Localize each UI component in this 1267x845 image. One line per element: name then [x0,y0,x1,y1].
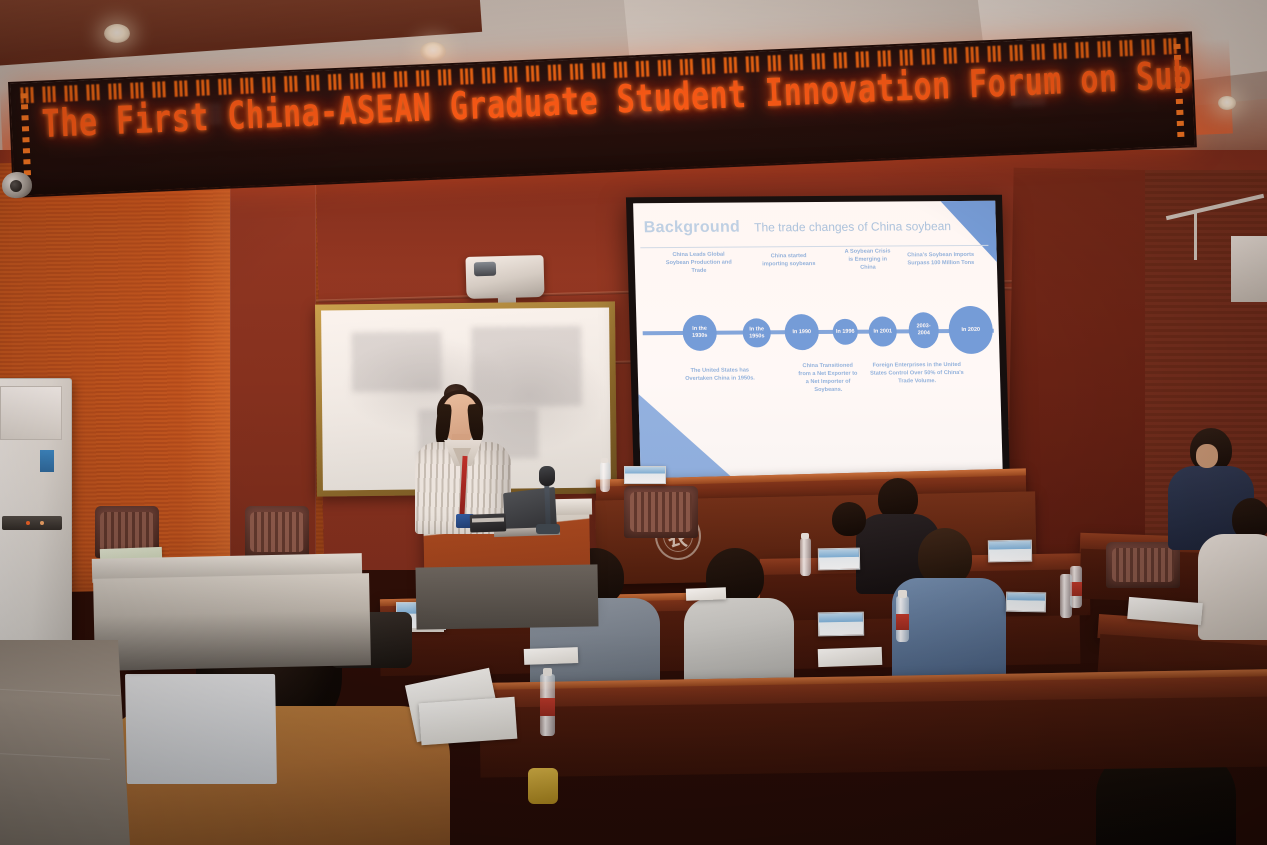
whiteboard-smudge-1 [351,331,442,392]
nameplate-mid-2 [988,540,1032,563]
timeline-node-3: In 1990 [784,314,819,350]
downlight-6 [1218,96,1236,110]
bottle-cap-1 [543,668,552,676]
microphone-icon [539,466,555,486]
conference-room-photo: The First China-ASEAN Graduate Student I… [0,0,1267,845]
document-row2-2 [524,647,579,665]
slide-note-below-2: China Transitioned from a Net Exporter t… [798,362,859,395]
ac-grille [0,386,62,440]
microphone-base [536,524,560,534]
chair-slats-right-1 [1112,548,1174,582]
document-row2-3 [686,587,726,600]
projector-lens-icon [474,262,496,277]
nameplate-mid-3 [818,612,864,637]
timeline-node-6: 2003-2004 [908,312,939,348]
slide-note-above-2: China started importing soybeans [761,252,817,269]
slide-note-below-3: Foreign Enterprises in the United States… [870,361,965,386]
document-row2-1 [818,647,883,667]
nameplate-mid-4 [1006,592,1046,613]
bottle-label-1 [540,698,555,716]
bottle-cap-2 [898,590,907,598]
audience-head-7 [832,502,866,536]
slide-note-above-4: China's Soybean Imports Surpass 100 Mill… [907,251,975,268]
slide-note-above-1: China Leads Global Soybean Production an… [660,251,737,276]
nameplate-mid-1 [818,548,860,571]
timeline-node-1: In the 1930s [682,315,717,351]
wall-speaker-box [1231,236,1267,302]
slide-title: Background [644,219,741,238]
water-bottle-3 [800,538,811,576]
water-bottle-5 [1060,574,1072,618]
ac-energy-label-icon [40,450,54,472]
audience-body-4 [892,578,1006,688]
chair-slats-left-2 [250,512,304,552]
bottle-cap-6 [601,458,608,463]
projection-screen: Background The trade changes of China so… [626,195,1010,488]
podium-cabinet [93,573,371,671]
podium-base [415,564,598,629]
ac-status-led-icon [40,521,44,525]
ac-power-led-icon [26,521,30,525]
slide-subtitle: The trade changes of China soybean [754,219,951,234]
bottle-label-2 [896,614,909,630]
downlight-1 [104,24,130,43]
slide-note-above-3: A Soybean Crisis is Emerging in China [842,247,893,272]
ceiling-rail-post [1194,212,1197,260]
desk-front-row-front [480,696,1267,777]
timeline-node-4: In 1996 [832,319,858,345]
nameplate-head-table [624,466,666,484]
foreground-laptop-screen[interactable] [125,674,277,784]
whiteboard-smudge-2 [471,326,582,407]
audience-face-1 [1196,444,1218,468]
camera-lens-icon [10,180,22,192]
timeline-node-5: In 2001 [868,316,897,346]
timeline-node-2: In the 1950s [742,318,771,347]
chair-slats-head-1 [630,492,692,532]
ac-control-panel[interactable] [2,516,62,530]
audience-body-2 [1198,534,1267,640]
podium-control-box[interactable] [470,513,507,532]
presentation-slide: Background The trade changes of China so… [633,201,1003,480]
slide-note-below-1: The United States has Overtaken China in… [684,366,756,383]
chair-slats-left-1 [100,512,154,552]
yellow-bottle-foreground [528,768,558,804]
foreground-paper-3 [419,697,518,746]
bottle-cap-3 [801,533,809,539]
downlight-2 [420,42,446,61]
slide-header: Background The trade changes of China so… [633,209,996,246]
timeline-node-7: In 2020 [948,306,993,354]
water-bottle-6 [600,462,610,492]
